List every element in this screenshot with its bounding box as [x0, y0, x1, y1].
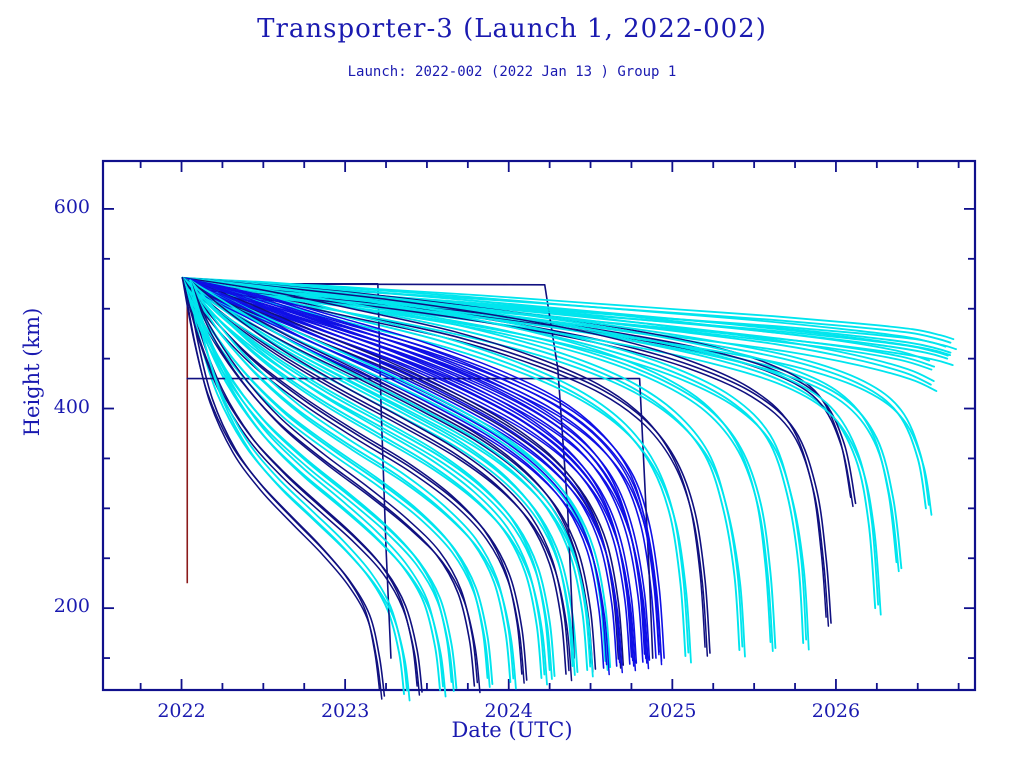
- decay-curves: [182, 278, 956, 701]
- x-tick-label: 2025: [642, 700, 702, 722]
- y-tick-label: 200: [0, 595, 90, 617]
- y-tick-label: 600: [0, 196, 90, 218]
- x-tick-label: 2026: [806, 700, 866, 722]
- decay-curve: [187, 284, 587, 670]
- x-tick-label: 2024: [479, 700, 539, 722]
- x-tick-label: 2023: [315, 700, 375, 722]
- x-tick-label: 2022: [152, 700, 212, 722]
- orbital-decay-plot: [0, 0, 1024, 768]
- y-axis-label: Height (km): [20, 262, 44, 482]
- y-tick-label: 400: [0, 396, 90, 418]
- chart-page: Transporter-3 (Launch 1, 2022-002) Launc…: [0, 0, 1024, 768]
